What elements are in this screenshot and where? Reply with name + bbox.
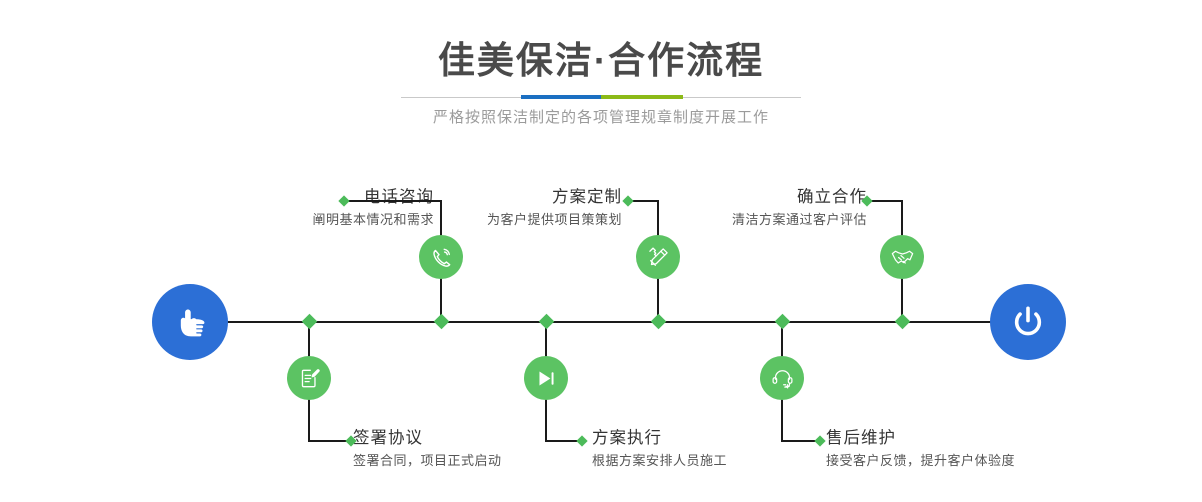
timeline-marker-1 <box>433 313 449 329</box>
step-connector-horizontal-1 <box>344 200 442 202</box>
step-icon-circle-6[interactable] <box>760 356 804 400</box>
step-icon-circle-5[interactable] <box>880 235 924 279</box>
step-label-5: 确立合作 清洁方案通过客户评估 <box>565 186 867 230</box>
page-title: 佳美保洁·合作流程 <box>0 38 1202 84</box>
step-icon-circle-3[interactable] <box>636 235 680 279</box>
step-label-6: 售后维护 接受客户反馈，提升客户体验度 <box>826 427 1166 471</box>
step-connector-horizontal-2 <box>308 440 350 442</box>
header: 佳美保洁·合作流程 严格按照保洁制定的各项管理规章制度开展工作 <box>0 0 1202 150</box>
timeline-end-node[interactable] <box>990 284 1066 360</box>
flow-diagram-root: 佳美保洁·合作流程 严格按照保洁制定的各项管理规章制度开展工作 <box>0 0 1202 502</box>
power-button-icon <box>1006 300 1050 344</box>
handshake-icon <box>890 245 915 270</box>
timeline-marker-6 <box>774 313 790 329</box>
step-desc-5: 清洁方案通过客户评估 <box>565 210 867 230</box>
document-pen-icon <box>297 366 322 391</box>
pencil-ruler-icon <box>646 245 671 270</box>
phone-call-icon <box>429 245 454 270</box>
page-subtitle: 严格按照保洁制定的各项管理规章制度开展工作 <box>0 106 1202 127</box>
timeline-marker-5 <box>894 313 910 329</box>
step-desc-6: 接受客户反馈，提升客户体验度 <box>826 451 1166 471</box>
title-divider <box>401 95 801 99</box>
divider-segment-green <box>601 95 683 99</box>
step-title-6: 售后维护 <box>826 427 1166 449</box>
step-icon-circle-1[interactable] <box>419 235 463 279</box>
timeline-start-node[interactable] <box>152 284 228 360</box>
step-title-5: 确立合作 <box>565 186 867 208</box>
step-icon-circle-4[interactable] <box>524 356 568 400</box>
timeline-marker-3 <box>650 313 666 329</box>
timeline-marker-4 <box>538 313 554 329</box>
step-icon-circle-2[interactable] <box>287 356 331 400</box>
play-forward-icon <box>534 366 559 391</box>
timeline-marker-2 <box>301 313 317 329</box>
divider-segment-blue <box>521 95 601 99</box>
headset-support-icon <box>770 366 795 391</box>
hand-pointing-icon <box>169 301 211 343</box>
